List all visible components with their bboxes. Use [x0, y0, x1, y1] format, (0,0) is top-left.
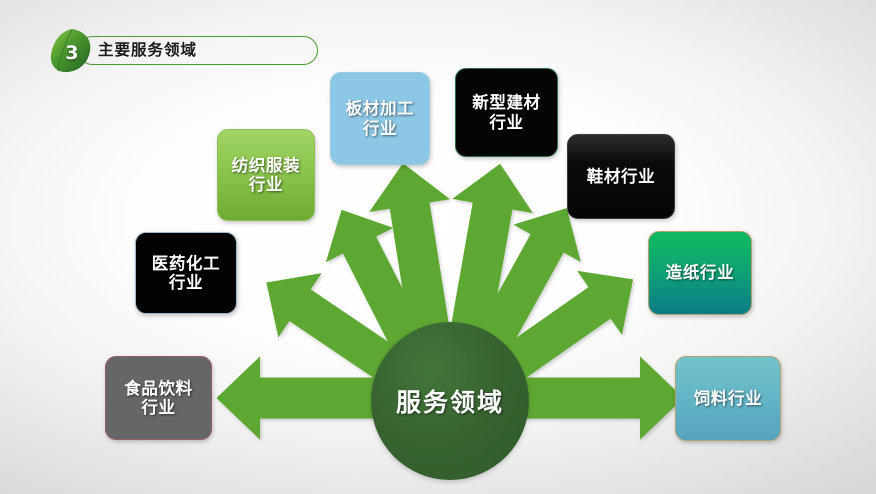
hub-label: 服务领域 [396, 383, 504, 419]
node-box-newmat[interactable]: 新型建材 行业 [455, 68, 558, 157]
node-label: 医药化工 行业 [152, 254, 220, 293]
node-label: 纺织服装 行业 [232, 156, 300, 195]
node-label: 造纸行业 [666, 263, 734, 282]
node-box-pharma[interactable]: 医药化工 行业 [135, 232, 237, 314]
node-box-plate[interactable]: 板材加工 行业 [330, 72, 430, 165]
node-box-textile[interactable]: 纺织服装 行业 [217, 129, 315, 221]
hub-circle[interactable]: 服务领域 [371, 322, 529, 480]
node-label: 食品饮料 行业 [124, 379, 192, 418]
node-box-feed[interactable]: 饲料行业 [675, 356, 781, 441]
node-box-food[interactable]: 食品饮料 行业 [105, 356, 212, 440]
slide-canvas: 3 主要服务领域 [0, 0, 876, 494]
node-label: 饲料行业 [694, 389, 762, 408]
node-label: 鞋材行业 [587, 167, 655, 186]
node-box-paper[interactable]: 造纸行业 [648, 231, 752, 315]
node-box-shoe[interactable]: 鞋材行业 [567, 134, 675, 219]
node-label: 新型建材 行业 [472, 93, 540, 132]
node-label: 板材加工 行业 [346, 99, 414, 138]
